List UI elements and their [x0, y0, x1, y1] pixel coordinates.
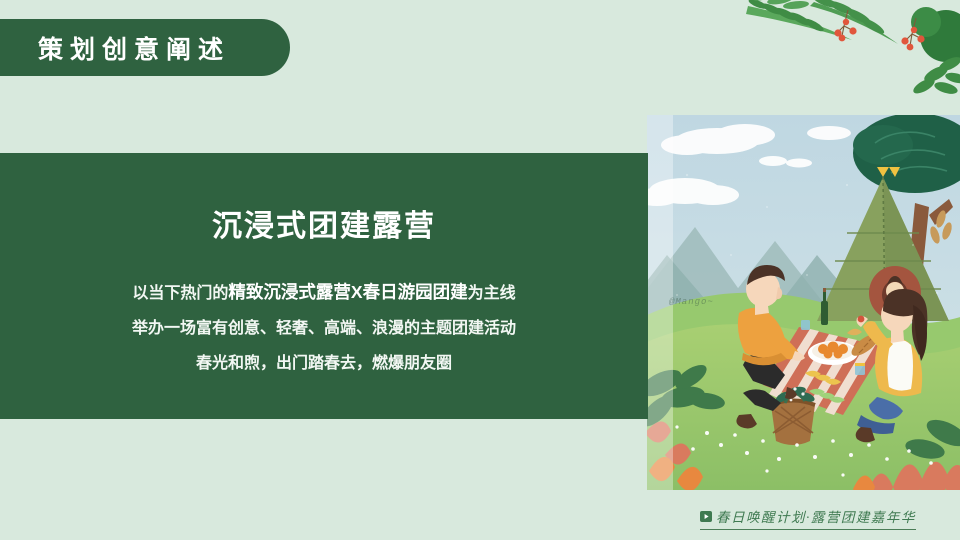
- foliage-decoration-icon: [740, 0, 960, 115]
- page-title: 策划创意阐述: [38, 30, 230, 66]
- illustration-watermark: @Mango~: [669, 297, 714, 307]
- footer-caption-text: 春日唤醒计划·露营团建嘉年华: [716, 506, 916, 526]
- content-title: 沉浸式团建露营: [0, 201, 648, 245]
- body-line-1-emphasis: 精致沉浸式露营X春日游园团建: [228, 282, 467, 302]
- camping-picnic-illustration: @Mango~: [647, 115, 960, 490]
- content-panel: 沉浸式团建露营 以当下热门的精致沉浸式露营X春日游园团建为主线 举办一场富有创意…: [0, 153, 648, 419]
- footer-caption: 春日唤醒计划·露营团建嘉年华: [700, 506, 916, 530]
- body-line-1-part-3: 为主线: [468, 285, 516, 302]
- body-line-2: 举办一场富有创意、轻奢、高端、浪漫的主题团建活动: [0, 311, 648, 346]
- body-line-1: 以当下热门的精致沉浸式露营X春日游园团建为主线: [0, 275, 648, 311]
- header-banner: 策划创意阐述: [0, 19, 290, 76]
- body-line-1-part-1: 以当下热门的: [132, 285, 228, 302]
- play-badge-icon: [700, 511, 712, 522]
- body-line-3: 春光和煦，出门踏春去，燃爆朋友圈: [0, 346, 648, 381]
- slide-root: 策划创意阐述: [0, 0, 960, 540]
- content-body: 以当下热门的精致沉浸式露营X春日游园团建为主线 举办一场富有创意、轻奢、高端、浪…: [0, 275, 648, 381]
